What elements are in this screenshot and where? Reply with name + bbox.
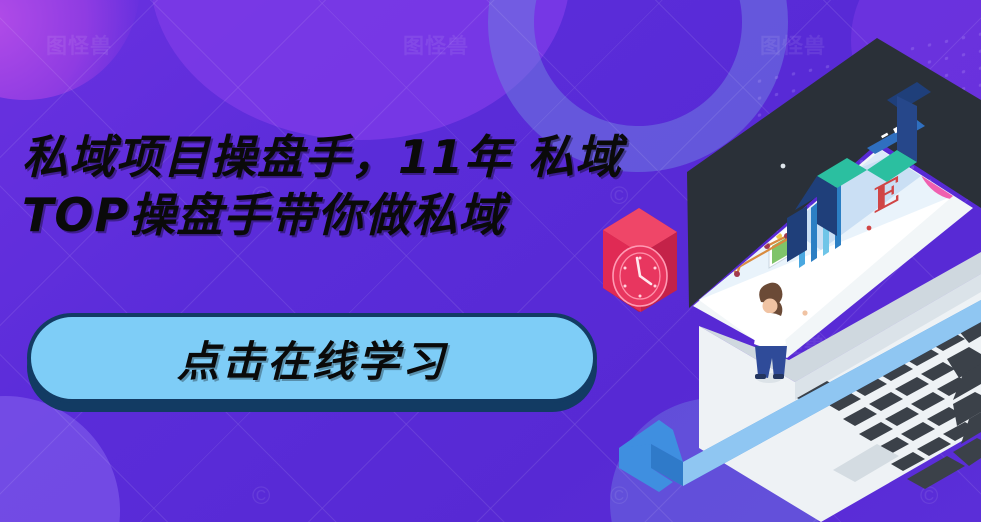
- illustration-isometric-laptop: E: [581, 0, 981, 522]
- cta-button-label: 点击在线学习: [177, 328, 447, 389]
- headline-block: 私域项目操盘手，11年 私域 TOP操盘手带你做私域: [22, 128, 782, 244]
- promo-banner: E: [0, 0, 981, 522]
- headline-line-2: TOP操盘手带你做私域: [22, 186, 782, 244]
- cta-button[interactable]: 点击在线学习: [27, 313, 597, 403]
- headline-line-1: 私域项目操盘手，11年 私域: [22, 128, 782, 186]
